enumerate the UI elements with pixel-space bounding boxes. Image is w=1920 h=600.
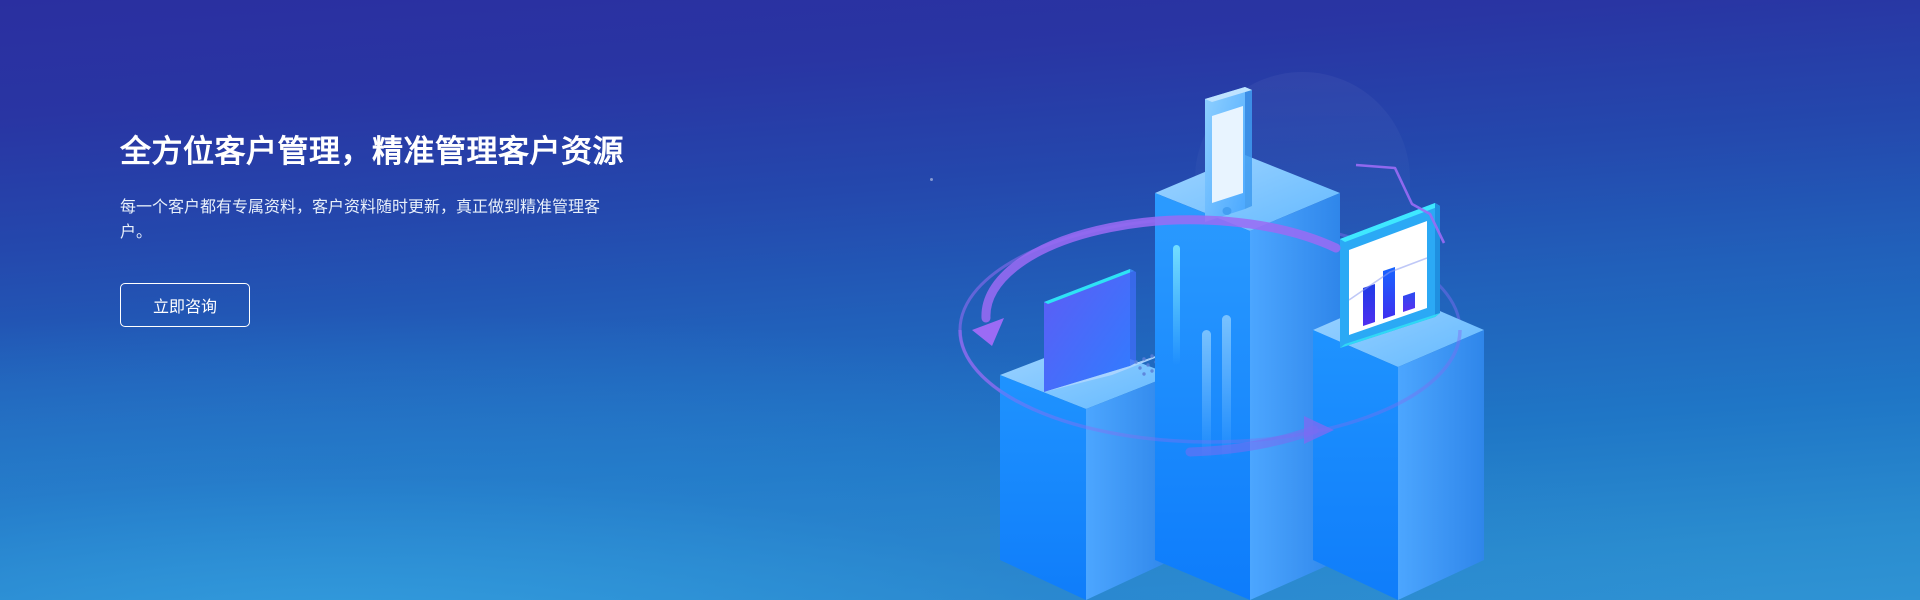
hero-banner: 全方位客户管理，精准管理客户资源 每一个客户都有专属资料，客户资料随时更新，真正… xyxy=(0,0,1920,600)
hero-subtitle: 每一个客户都有专属资料，客户资料随时更新，真正做到精准管理客户。 xyxy=(120,195,605,245)
consult-now-button[interactable]: 立即咨询 xyxy=(120,283,250,327)
isometric-illustration-svg xyxy=(900,0,1520,600)
hero-illustration xyxy=(900,0,1520,600)
tablet-device xyxy=(1205,87,1252,222)
arrow-head-left xyxy=(972,318,1004,346)
hero-copy-block: 全方位客户管理，精准管理客户资源 每一个客户都有专属资料，客户资料随时更新，真正… xyxy=(120,131,760,327)
page-title: 全方位客户管理，精准管理客户资源 xyxy=(120,131,760,173)
